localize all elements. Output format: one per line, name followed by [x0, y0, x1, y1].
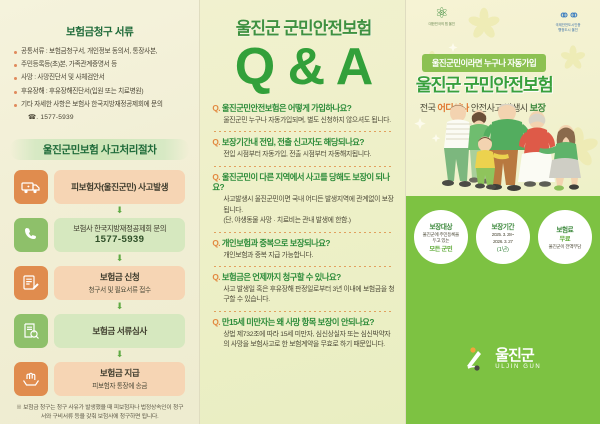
flow-step-label: 보험금 지급	[100, 368, 140, 378]
flow-step-1-box: 피보험자(울진군민) 사고발생	[54, 170, 185, 204]
qa-question: Q. 울진군민안전보험은 어떻게 가입하나요?	[212, 103, 394, 114]
left-panel: 보험금청구 서류 공통서류 : 보험금청구서, 개인정보 동의서, 통장사본, …	[0, 0, 199, 424]
qa-answer: 사고 발생일 혹은 후유장해 판정일로부터 3년 이내에 보험금을 청구할 수 …	[212, 285, 394, 306]
circle-title: 보장기간	[492, 221, 515, 231]
claim-documents-title: 보험금청구 서류	[8, 24, 191, 39]
hero-ribbon: 울진군민이라면 누구나 자동가입	[422, 54, 547, 72]
qa-item-1: Q. 울진군민안전보험은 어떻게 가입하나요? 울진군민 누구나 자동가입되며,…	[212, 103, 394, 126]
flow-step-2-box: 보험사 한국지방재정공제회 문의 1577-5939	[54, 218, 185, 252]
qa-question: Q. 개인보험과 중복으로 보장되나요?	[212, 238, 394, 249]
list-item: 기타 자세한 사항은 보험사 한국지방재정공제회에 문의	[14, 100, 189, 111]
qa-question: Q. 만15세 미만자는 왜 사망 항목 보장이 안되나요?	[212, 317, 394, 328]
qa-question-text: 개인보험과 중복으로 보장되나요?	[222, 238, 330, 248]
q-mark: Q.	[212, 317, 220, 327]
contact-phone-line: ☎. 1577-5939	[8, 113, 191, 121]
safe-caption-1: 국제안전도시인증	[544, 23, 592, 27]
right-panel-top: ⚛ 대한민국의 힘 울진 ⚭⚭ 국제안전도시인증 행정도시 울진 울진군민이라면…	[406, 0, 600, 196]
flow-step-label: 피보험자(울진군민) 사고발생	[71, 182, 168, 192]
flow-step-4: 보험금 서류심사	[14, 314, 185, 348]
qa-item-3: Q. 울진군민이 다른 지역에서 사고를 당해도 보장이 되나요? 사고발생시 …	[212, 172, 394, 227]
info-circle-coverage-target: 보장대상 울진군에 주민등록을 두고 있는 모든 군민	[414, 210, 468, 264]
list-item: 후유장해 : 후유장해진단서(입원 또는 치료병원)	[14, 87, 189, 98]
qa-answer: 개인보험과 중복 지급 가능합니다.	[212, 251, 394, 262]
qa-question-text: 울진군민안전보험은 어떻게 가입하나요?	[222, 103, 351, 113]
flow-step-5-box: 보험금 지급 피보험자 통장에 송금	[54, 362, 185, 396]
telephone-icon: ☎	[28, 114, 36, 121]
circle-body: 울진군에 주민등록을 두고 있는	[421, 232, 461, 244]
family-group-illustration	[406, 104, 600, 196]
flow-step-1: 피보험자(울진군민) 사고발생	[14, 170, 185, 204]
circle-title: 보장대상	[430, 221, 453, 231]
info-circles: 보장대상 울진군에 주민등록을 두고 있는 모든 군민 보장기간 2025. 3…	[406, 196, 600, 264]
flow-step-2: 보험사 한국지방재정공제회 문의 1577-5939	[14, 218, 185, 252]
qa-answer: 울진군민 누구나 자동가입되며, 별도 신청하지 않으셔도 됩니다.	[212, 116, 394, 127]
emblem-caption: 대한민국의 힘 울진	[420, 22, 464, 27]
circle-highlight: 모든 군민	[429, 244, 452, 253]
circle-note: 울진군이 전액부담	[547, 244, 583, 250]
qa-item-4: Q. 개인보험과 중복으로 보장되나요? 개인보험과 중복 지급 가능합니다.	[212, 238, 394, 261]
list-item: 사망 : 사망진단서 및 사체검안서	[14, 73, 189, 84]
flow-step-label: 보험금 신청	[100, 272, 140, 282]
right-panel-bottom: 보장대상 울진군에 주민등록을 두고 있는 모든 군민 보장기간 2025. 3…	[406, 196, 600, 424]
claim-process-flow: 피보험자(울진군민) 사고발생 ⬇ 보험사 한국지방재정공제회 문의 1577-…	[8, 170, 191, 396]
qa-item-2: Q. 보장기간내 전입, 전출 신고자도 해당되나요? 전입 시점부터 자동가입…	[212, 137, 394, 160]
circle-highlight: 무료	[559, 234, 570, 243]
flow-step-phone: 1577-5939	[95, 234, 144, 245]
qa-question: Q. 보장기간내 전입, 전출 신고자도 해당되나요?	[212, 137, 394, 148]
q-mark: Q.	[212, 137, 220, 147]
claim-process-title: 울진군민보험 사고처리절차	[10, 139, 189, 160]
flow-step-label: 보험금 서류심사	[92, 326, 147, 336]
arrow-down-icon: ⬇	[54, 254, 185, 263]
document-pen-icon	[14, 266, 48, 300]
logo-name-en: ULJIN GUN	[495, 364, 541, 370]
right-panel: ⚛ 대한민국의 힘 울진 ⚭⚭ 국제안전도시인증 행정도시 울진 울진군민이라면…	[406, 0, 600, 424]
claim-documents-list: 공통서류 : 보험금청구서, 개인정보 동의서, 통장사본, 주민등록등(초)본…	[8, 47, 191, 110]
separator	[214, 131, 392, 132]
qa-question-text: 보험금은 언제까지 청구할 수 있나요?	[222, 272, 341, 282]
flow-step-3-box: 보험금 신청 청구서 및 필요서류 접수	[54, 266, 185, 300]
emblem-mark: ⚛	[420, 6, 464, 21]
brochure-page: 보험금청구 서류 공통서류 : 보험금청구서, 개인정보 동의서, 통장사본, …	[0, 0, 600, 424]
center-title: 울진군 군민안전보험	[212, 14, 394, 39]
safe-caption-2: 행정도시 울진	[544, 28, 592, 32]
flow-step-5: 보험금 지급 피보험자 통장에 송금	[14, 362, 185, 396]
hands-money-icon	[14, 362, 48, 396]
q-mark: Q.	[212, 238, 220, 248]
qa-question-text: 만15세 미만자는 왜 사망 항목 보장이 안되나요?	[222, 317, 374, 327]
circle-body: 2025. 3. 28~ 2026. 3. 27	[490, 232, 516, 244]
qa-item-5: Q. 보험금은 언제까지 청구할 수 있나요? 사고 발생일 혹은 후유장해 판…	[212, 272, 394, 306]
ambulance-icon	[14, 170, 48, 204]
qa-answer: 사고발생시 울진군민이면 국내 어디든 발생지역에 관계없이 보장됩니다. (단…	[212, 195, 394, 227]
separator	[214, 266, 392, 267]
hero-title: 울진군 군민안전보험	[416, 72, 596, 97]
qa-answer: 전입 시점부터 자동가입, 전출 시점부터 자동해지됩니다.	[212, 150, 394, 161]
circle-note: (1년)	[497, 245, 509, 253]
arrow-down-icon: ⬇	[54, 350, 185, 359]
flow-step-sublabel: 청구서 및 필요서류 접수	[89, 284, 151, 294]
center-panel: 울진군 군민안전보험 Q & A Q. 울진군민안전보험은 어떻게 가입하나요?…	[200, 0, 404, 424]
qa-question-text: 보장기간내 전입, 전출 신고자도 해당되나요?	[222, 137, 364, 147]
safe-community-icon: ⚭⚭ 국제안전도시인증 행정도시 울진	[544, 8, 592, 33]
separator	[214, 311, 392, 312]
document-search-icon	[14, 314, 48, 348]
q-mark: Q.	[212, 103, 220, 113]
uljin-gun-logo-icon: 울진군 ULJIN GUN	[406, 346, 600, 372]
info-circle-premium: 보험료 무료 울진군이 전액부담	[538, 210, 592, 264]
q-mark: Q.	[212, 172, 220, 182]
circle-title: 보험료	[556, 224, 573, 234]
qa-question-text: 울진군민이 다른 지역에서 사고를 당해도 보장이 되나요?	[212, 172, 389, 193]
flow-step-3: 보험금 신청 청구서 및 필요서류 접수	[14, 266, 185, 300]
list-item: 공통서류 : 보험금청구서, 개인정보 동의서, 통장사본,	[14, 47, 189, 58]
flow-step-label: 보험사 한국지방재정공제회 문의	[73, 225, 166, 234]
safe-mark: ⚭⚭	[544, 8, 592, 22]
arrow-down-icon: ⬇	[54, 206, 185, 215]
qa-heading: Q & A	[212, 41, 394, 93]
info-circle-coverage-period: 보장기간 2025. 3. 28~ 2026. 3. 27 (1년)	[476, 210, 530, 264]
list-item: 주민등록등(초)본, 가족관계증명서 등	[14, 60, 189, 71]
logo-name-ko: 울진군	[495, 348, 541, 363]
qa-question: Q. 보험금은 언제까지 청구할 수 있나요?	[212, 272, 394, 283]
phone-number: 1577-5939	[40, 114, 73, 121]
flow-step-4-box: 보험금 서류심사	[54, 314, 185, 348]
phone-handset-icon	[14, 218, 48, 252]
uljin-tree-emblem-icon: ⚛ 대한민국의 힘 울진	[420, 6, 464, 27]
separator	[214, 232, 392, 233]
separator	[214, 166, 392, 167]
q-mark: Q.	[212, 272, 220, 282]
logo-mark	[464, 346, 490, 372]
flow-step-sublabel: 피보험자 통장에 송금	[92, 380, 147, 390]
qa-answer: 상법 제732조에 따라 15세 미만자, 심신상실자 또는 심신박약자의 사망…	[212, 330, 394, 351]
qa-question: Q. 울진군민이 다른 지역에서 사고를 당해도 보장이 되나요?	[212, 172, 394, 194]
logo-text: 울진군 ULJIN GUN	[495, 348, 541, 370]
arrow-down-icon: ⬇	[54, 302, 185, 311]
claim-footnote: ※ 보험금 청구는 청구 사유가 발생했을 때 피보험자나 법정상속인이 청구서…	[8, 396, 191, 423]
qa-item-6: Q. 만15세 미만자는 왜 사망 항목 보장이 안되나요? 상법 제732조에…	[212, 317, 394, 351]
